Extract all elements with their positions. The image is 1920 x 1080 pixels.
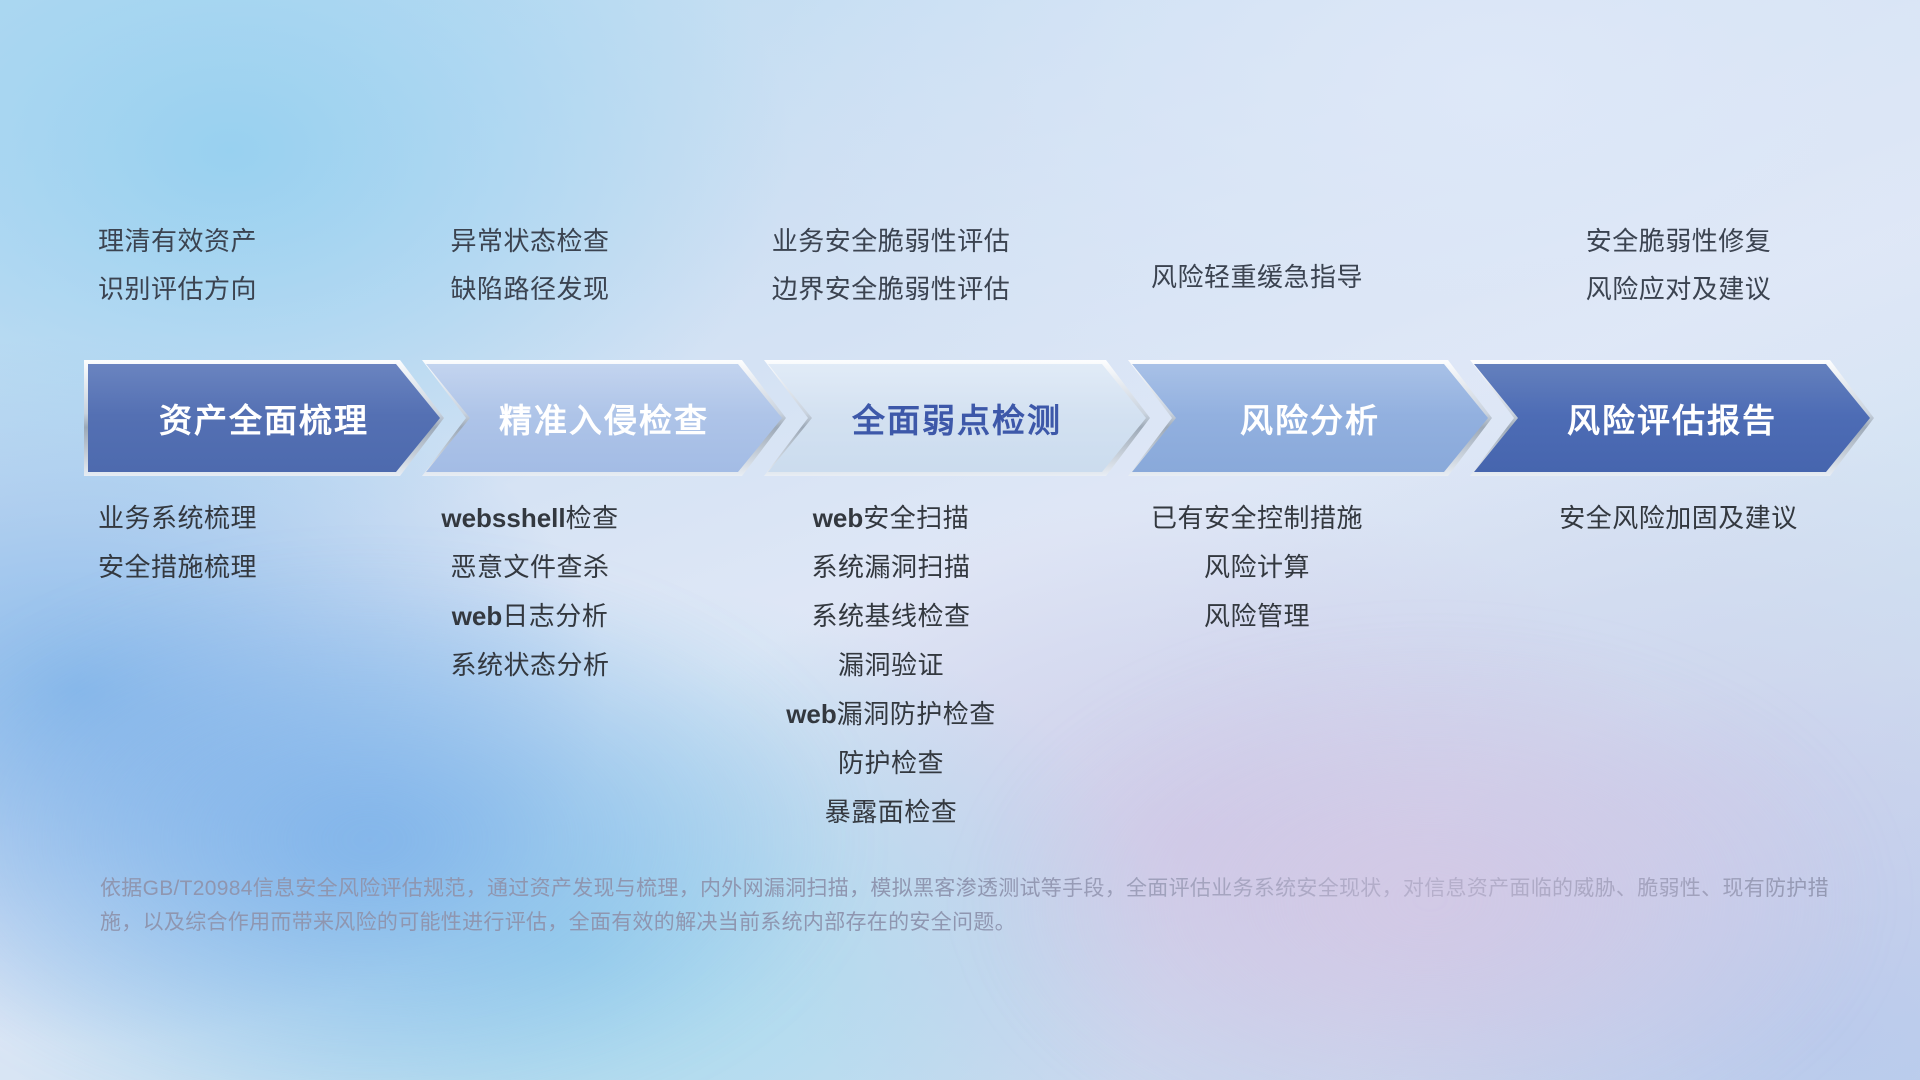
stage-outputs-row: 业务系统梳理 安全措施梳理 websshell检查 恶意文件查杀 web日志分析… (0, 505, 1920, 848)
output-item: 安全措施梳理 (98, 554, 257, 580)
output-item: 系统状态分析 (450, 652, 609, 678)
stage-chevron-1[interactable]: 资产全面梳理 (88, 364, 440, 472)
output-item: 系统基线检查 (811, 603, 970, 629)
output-item: 防护检查 (838, 750, 944, 776)
stage-chevron-2[interactable]: 精准入侵检查 (426, 364, 782, 472)
stage-outputs-column-4: 已有安全控制措施 风险计算 风险管理 (1077, 505, 1437, 848)
input-item: 异常状态检查 (450, 228, 609, 254)
input-item: 边界安全脆弱性评估 (772, 276, 1011, 302)
output-item-suffix: 检查 (566, 503, 619, 533)
output-item: 已有安全控制措施 (1151, 505, 1363, 531)
output-item: 系统漏洞扫描 (811, 554, 970, 580)
output-item-suffix: 漏洞防护检查 (837, 699, 996, 729)
input-item: 风险轻重缓急指导 (1151, 264, 1363, 290)
stage-inputs-column-3: 业务安全脆弱性评估 边界安全脆弱性评估 (705, 228, 1077, 324)
stage-label: 风险评估报告 (1567, 394, 1777, 442)
stage-inputs-column-5: 安全脆弱性修复 风险应对及建议 (1437, 228, 1920, 324)
output-item: web日志分析 (452, 603, 609, 629)
input-item: 风险应对及建议 (1586, 276, 1772, 302)
stage-label: 精准入侵检查 (499, 394, 709, 442)
input-item: 缺陷路径发现 (450, 276, 609, 302)
stage-outputs-column-3: web安全扫描 系统漏洞扫描 系统基线检查 漏洞验证 web漏洞防护检查 防护检… (705, 505, 1077, 848)
output-item: 恶意文件查杀 (450, 554, 609, 580)
diagram-canvas: 理清有效资产 识别评估方向 异常状态检查 缺陷路径发现 业务安全脆弱性评估 边界… (0, 0, 1920, 1080)
stage-label: 风险分析 (1240, 394, 1380, 442)
stage-outputs-column-2: websshell检查 恶意文件查杀 web日志分析 系统状态分析 (355, 505, 705, 848)
process-arrow-banner: 资产全面梳理 精准入侵检查 全面弱点检测 风险分析 风险评估报告 (88, 364, 1878, 472)
input-item: 安全脆弱性修复 (1586, 228, 1772, 254)
stage-chevron-5[interactable]: 风险评估报告 (1474, 364, 1870, 472)
stage-inputs-row: 理清有效资产 识别评估方向 异常状态检查 缺陷路径发现 业务安全脆弱性评估 边界… (0, 228, 1920, 324)
output-item-suffix: 安全扫描 (863, 503, 969, 533)
output-item: 风险计算 (1204, 554, 1310, 580)
input-item: 理清有效资产 (98, 228, 257, 254)
stage-outputs-column-1: 业务系统梳理 安全措施梳理 (0, 505, 355, 848)
stage-inputs-column-1: 理清有效资产 识别评估方向 (0, 228, 355, 324)
stage-label: 全面弱点检测 (852, 394, 1062, 442)
stage-inputs-column-2: 异常状态检查 缺陷路径发现 (355, 228, 705, 324)
input-item: 识别评估方向 (98, 276, 257, 302)
stage-label: 资产全面梳理 (159, 394, 369, 442)
output-item: 风险管理 (1204, 603, 1310, 629)
input-item: 业务安全脆弱性评估 (772, 228, 1011, 254)
output-item: 漏洞验证 (838, 652, 944, 678)
stage-chevron-3[interactable]: 全面弱点检测 (768, 364, 1146, 472)
footnote-paragraph: 依据GB/T20984信息安全风险评估规范，通过资产发现与梳理，内外网漏洞扫描，… (100, 872, 1860, 940)
stage-outputs-column-5: 安全风险加固及建议 (1437, 505, 1920, 848)
output-item: 安全风险加固及建议 (1559, 505, 1798, 531)
stage-inputs-column-4: 风险轻重缓急指导 (1077, 228, 1437, 324)
output-item: 暴露面检查 (825, 799, 958, 825)
output-item: web安全扫描 (813, 505, 970, 531)
output-item: websshell检查 (441, 505, 618, 531)
output-item: web漏洞防护检查 (786, 701, 996, 727)
stage-chevron-4[interactable]: 风险分析 (1132, 364, 1488, 472)
output-item-suffix: 日志分析 (502, 601, 608, 631)
output-item: 业务系统梳理 (98, 505, 257, 531)
